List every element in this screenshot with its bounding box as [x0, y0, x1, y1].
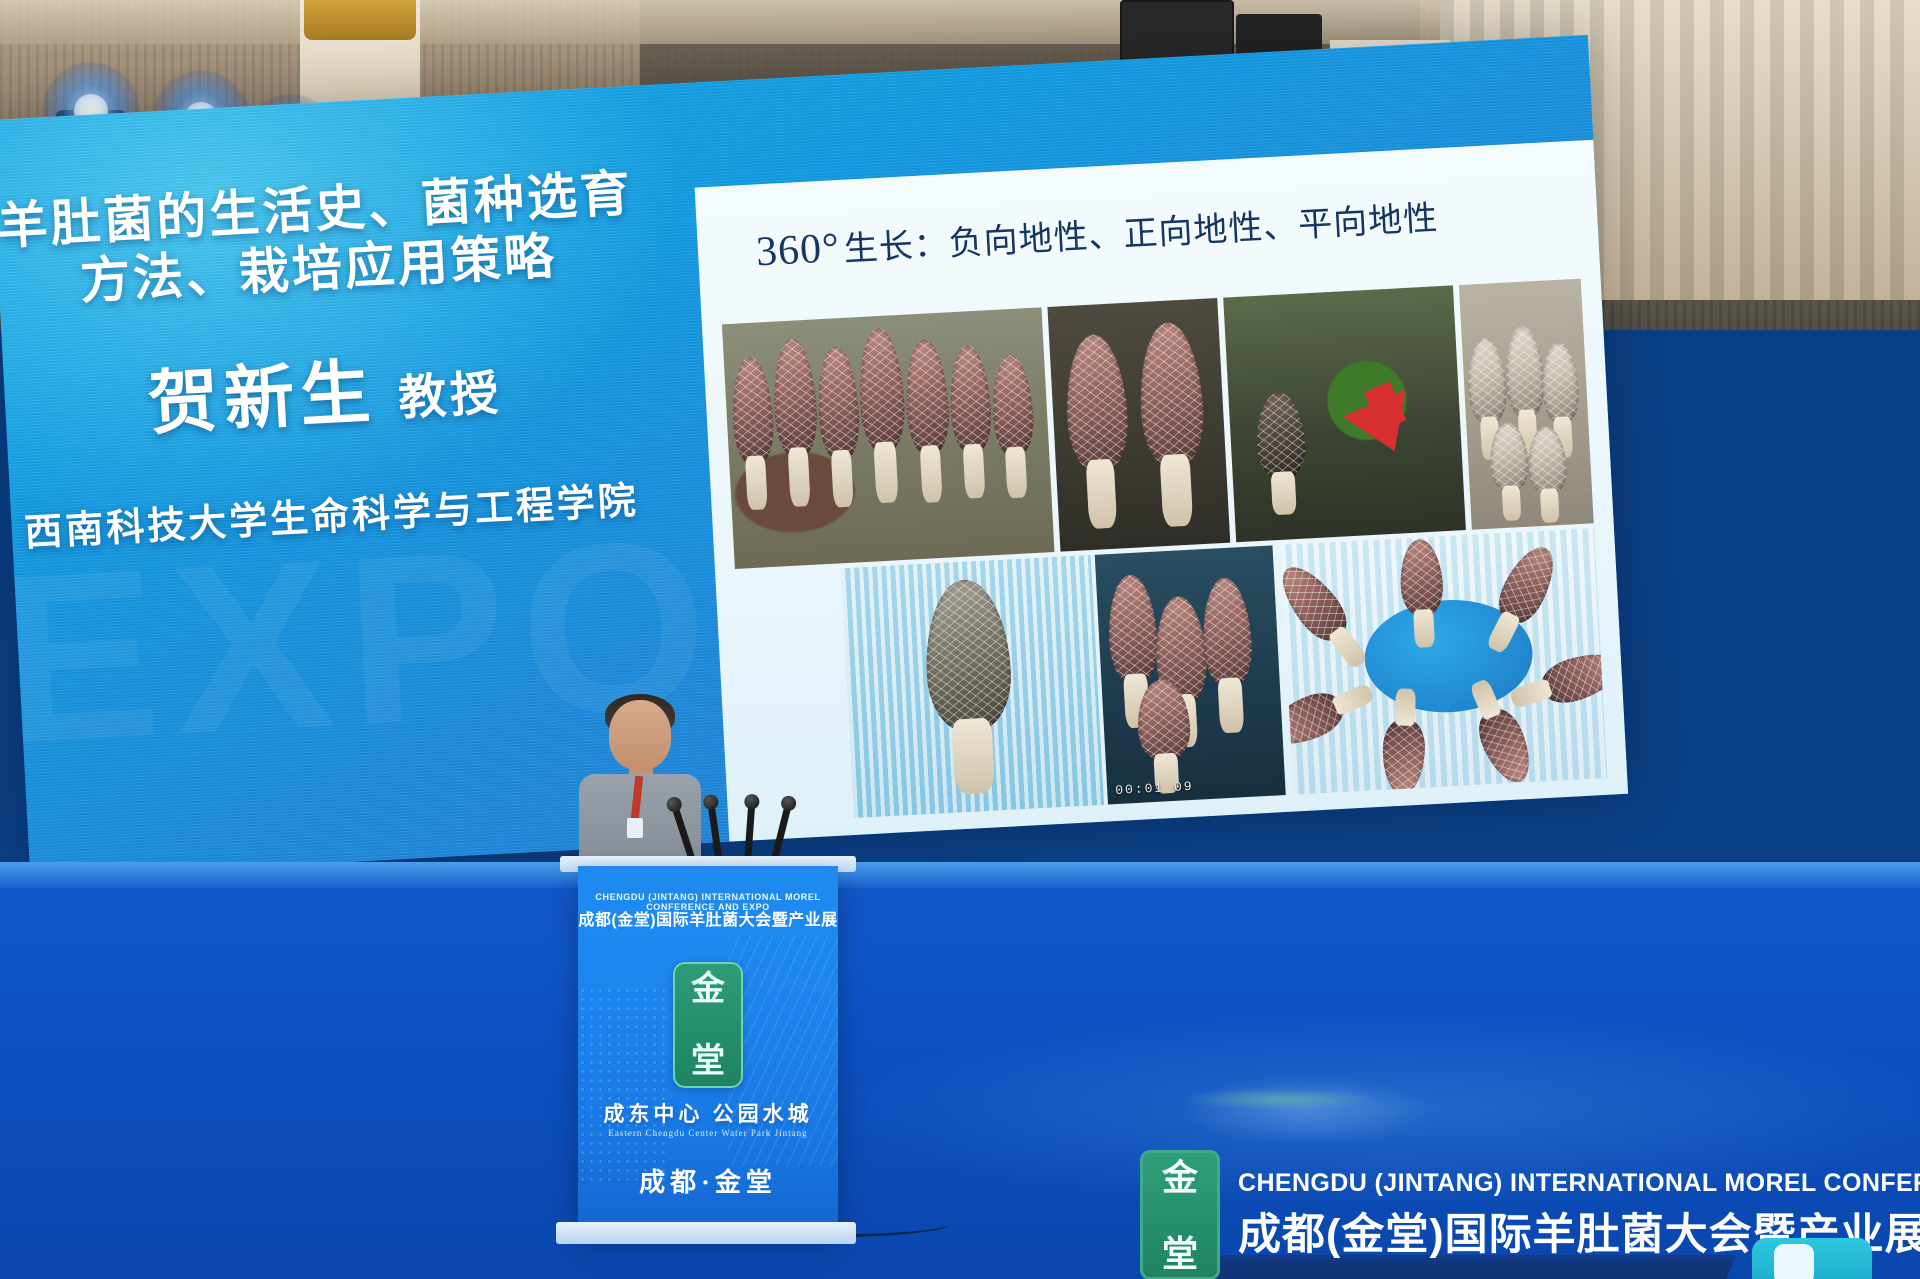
stage-floor-edge	[0, 862, 1920, 888]
photo-green-arrow	[1223, 285, 1466, 542]
photo-morel-row	[722, 307, 1055, 569]
speaker-name: 贺新生	[146, 355, 378, 444]
banner-line-en: CHENGDU (JINTANG) INTERNATIONAL MOREL CO…	[1238, 1169, 1920, 1198]
podium-dot-pattern	[578, 986, 668, 1186]
banner-logo-char-bottom: 堂	[1143, 1237, 1217, 1271]
banner-logo-char-top: 金	[1143, 1161, 1217, 1195]
column-left-gilding	[304, 0, 416, 40]
podium-logo-char-bottom: 堂	[675, 1046, 741, 1078]
podium-logo-char-top: 金	[675, 974, 741, 1006]
photo-grid: 00:01 09	[711, 270, 1617, 831]
speaker-name-block: 贺新生教授	[0, 320, 677, 458]
podium-header-cn: 成都(金堂)国际羊肚菌大会暨产业展	[578, 906, 838, 930]
speaker-badge	[627, 818, 643, 838]
podium: CHENGDU (JINTANG) INTERNATIONAL MOREL CO…	[578, 866, 838, 1234]
podium-slogan-cn: 成东中心 公园水城	[578, 1098, 838, 1128]
presentation-slide: 360° 生长：负向地性、正向地性、平向地性	[695, 140, 1629, 842]
slide-heading-sub: 生长：负向地性、正向地性、平向地性	[843, 200, 1439, 269]
podium-city-label: 成都·金堂	[578, 1162, 838, 1199]
slide-heading-degrees: 360°	[755, 225, 841, 275]
photo-timecode: 00:01 09	[1115, 779, 1194, 798]
podium-jintang-logo: 金 堂	[673, 962, 743, 1088]
photo-radial-arrangement	[1280, 528, 1607, 794]
teal-mascot-graphic	[1752, 1238, 1872, 1279]
podium-slogan-en: Eastern Chengdu Center Water Park Jintan…	[578, 1128, 838, 1138]
photo-morel-pair	[1047, 298, 1230, 552]
photo-scan-specimen	[841, 555, 1104, 818]
photo-pale-morels	[1459, 279, 1594, 530]
slide-heading: 360° 生长：负向地性、正向地性、平向地性	[755, 190, 1439, 276]
speaker-head	[609, 700, 671, 770]
podium-base	[556, 1222, 856, 1244]
led-video-wall: EXPO 羊肚菌的生活史、菌种选育 方法、栽培应用策略 贺新生教授 西南科技大学…	[0, 35, 1628, 879]
photo-cluster-timecode: 00:01 09	[1095, 545, 1286, 804]
floor-green-light	[1180, 1088, 1380, 1110]
banner-jintang-logo: 金 堂	[1140, 1150, 1220, 1279]
floor-spotlight	[1180, 1075, 1430, 1145]
slide-title-block: 羊肚菌的生活史、菌种选育 方法、栽培应用策略 贺新生教授 西南科技大学生命科学与…	[0, 162, 682, 559]
stage-photo: EXPO 羊肚菌的生活史、菌种选育 方法、栽培应用策略 贺新生教授 西南科技大学…	[0, 0, 1920, 1279]
speaker-title: 教授	[397, 367, 504, 425]
